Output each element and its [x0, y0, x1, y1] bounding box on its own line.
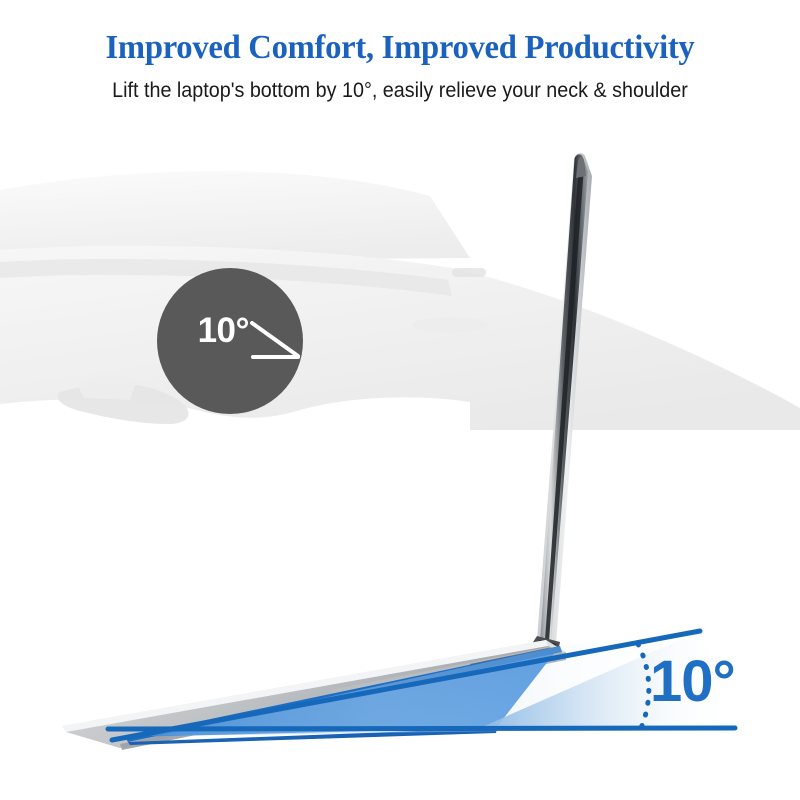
angle-wedge-icon [249, 318, 301, 364]
angle-gradient-fill [150, 631, 735, 736]
angle-badge: 10° [157, 268, 303, 414]
promo-image-canvas: Improved Comfort, Improved Productivity … [0, 0, 800, 800]
angle-callout-value: 10° [650, 651, 735, 713]
ghost-laptop-background [0, 171, 800, 440]
angle-badge-value: 10° [175, 311, 249, 351]
page-title: Improved Comfort, Improved Productivity [16, 28, 784, 68]
page-subtitle: Lift the laptop's bottom by 10°, easily … [24, 78, 776, 104]
